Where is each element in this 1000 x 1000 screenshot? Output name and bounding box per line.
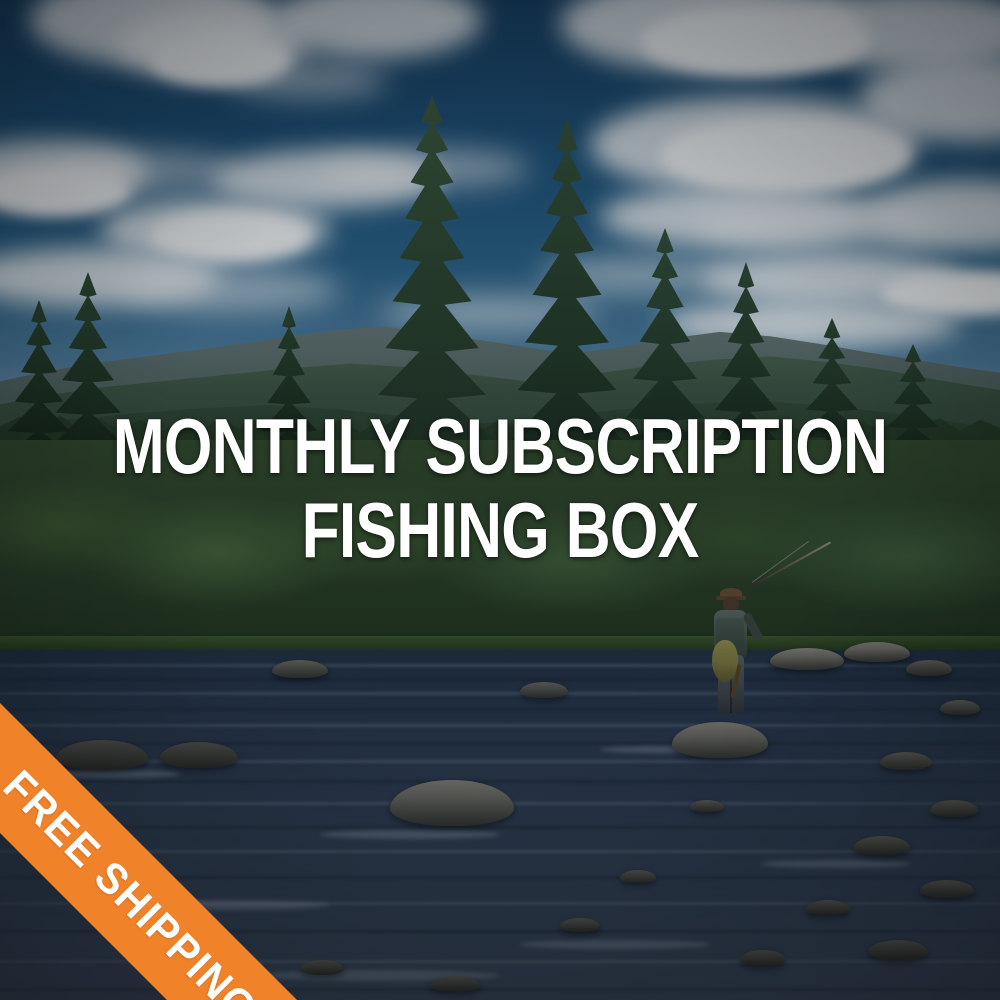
free-shipping-ribbon: FREE SHIPPING <box>0 667 361 1000</box>
ribbon-container: FREE SHIPPING <box>0 0 1000 1000</box>
free-shipping-label: FREE SHIPPING <box>0 761 267 1000</box>
product-banner[interactable]: MONTHLY SUBSCRIPTION FISHING BOX FREE SH… <box>0 0 1000 1000</box>
